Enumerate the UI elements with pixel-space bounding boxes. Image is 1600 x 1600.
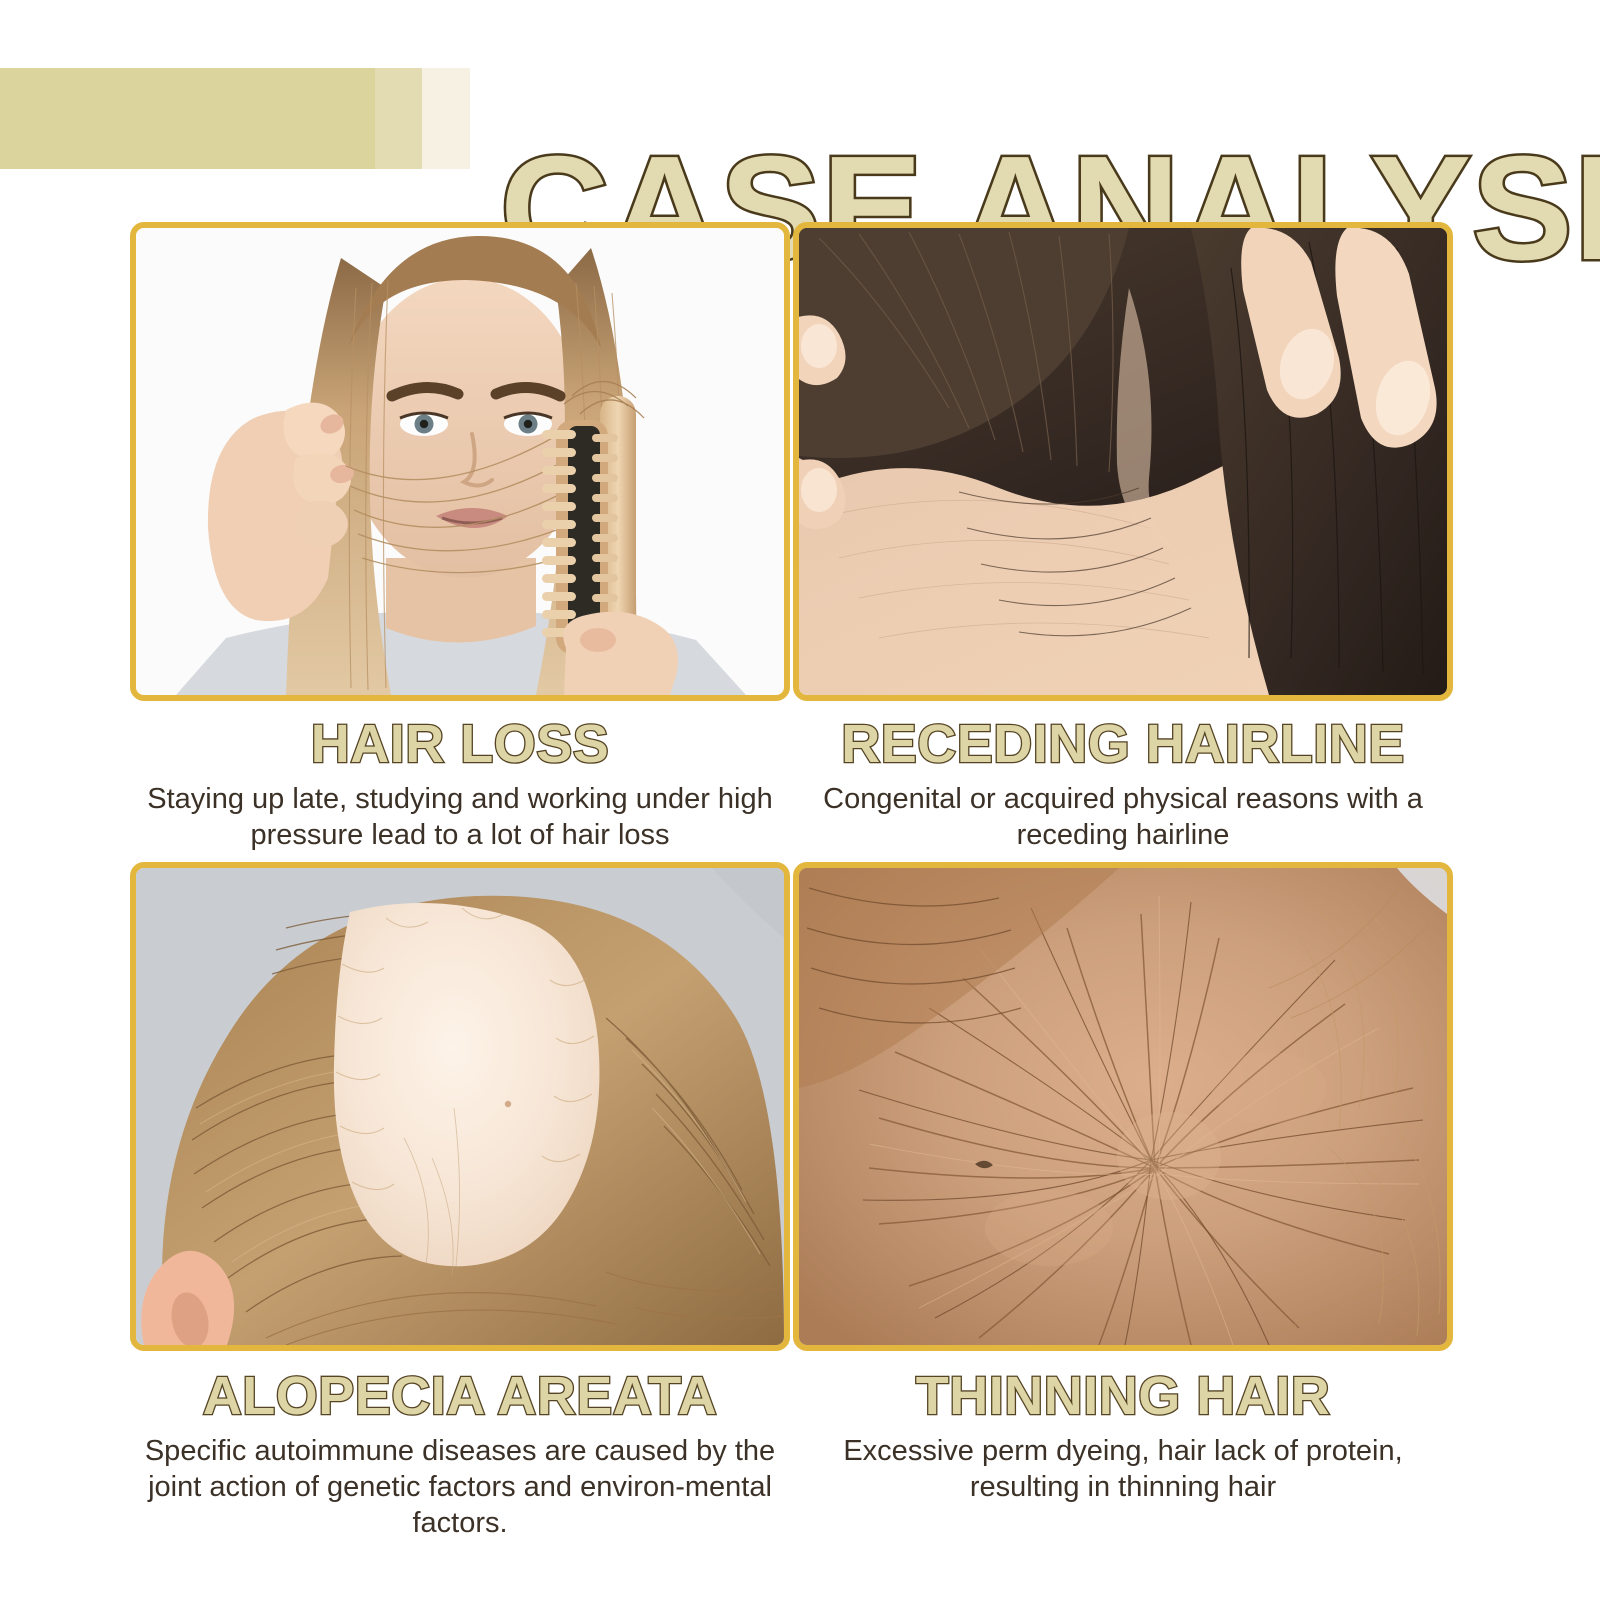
photo-alopecia-areata xyxy=(136,868,784,1345)
header-band-segment-light xyxy=(422,68,470,169)
header-color-band xyxy=(0,68,470,169)
photo-receding-hairline xyxy=(799,228,1447,695)
case-card-thinning-hair: THINNING HAIR Excessive perm dyeing, hai… xyxy=(793,862,1453,1505)
case-description-alopecia-areata: Specific autoimmune diseases are caused … xyxy=(130,1433,790,1541)
photo-hair-loss xyxy=(136,228,784,695)
header-band-segment-main xyxy=(0,68,375,169)
photo-frame-alopecia-areata xyxy=(130,862,790,1351)
photo-frame-hair-loss xyxy=(130,222,790,701)
case-heading-receding-hairline: RECEDING HAIRLINE xyxy=(793,715,1453,773)
case-card-alopecia-areata: ALOPECIA AREATA Specific autoimmune dise… xyxy=(130,862,790,1541)
photo-frame-receding-hairline xyxy=(793,222,1453,701)
header-band-segment-mid xyxy=(375,68,422,169)
case-heading-alopecia-areata: ALOPECIA AREATA xyxy=(130,1367,790,1425)
case-card-receding-hairline: RECEDING HAIRLINE Congenital or acquired… xyxy=(793,222,1453,853)
case-description-receding-hairline: Congenital or acquired physical reasons … xyxy=(793,781,1453,853)
case-heading-hair-loss: HAIR LOSS xyxy=(130,715,790,773)
case-description-hair-loss: Staying up late, studying and working un… xyxy=(130,781,790,853)
photo-thinning-hair xyxy=(799,868,1447,1345)
case-description-thinning-hair: Excessive perm dyeing, hair lack of prot… xyxy=(793,1433,1453,1505)
case-card-hair-loss: HAIR LOSS Staying up late, studying and … xyxy=(130,222,790,853)
case-grid: HAIR LOSS Staying up late, studying and … xyxy=(0,222,1600,1600)
photo-frame-thinning-hair xyxy=(793,862,1453,1351)
case-heading-thinning-hair: THINNING HAIR xyxy=(793,1367,1453,1425)
